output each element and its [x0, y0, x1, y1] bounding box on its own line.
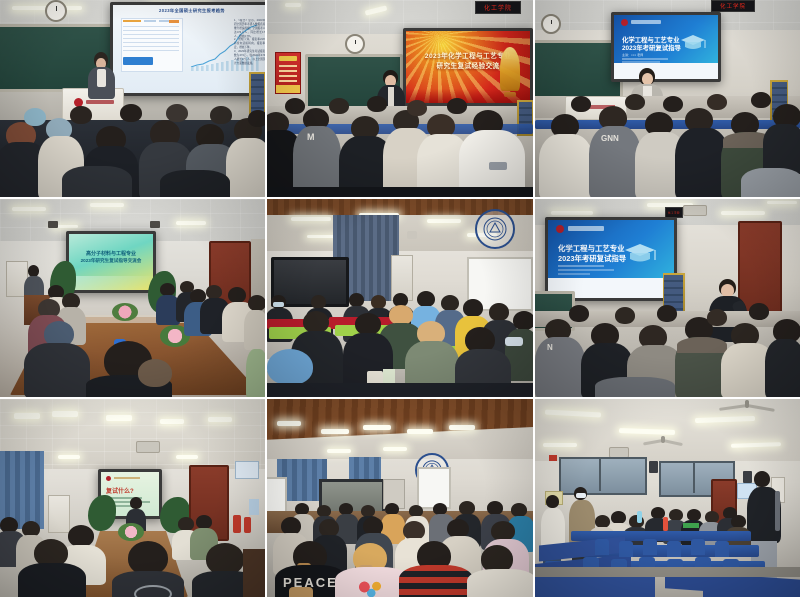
university-crest-icon	[621, 19, 628, 26]
collage-photo-9[interactable]	[535, 399, 800, 597]
slide-title-4-line2: 2023年研究生复试指导交流会	[69, 258, 153, 264]
blackboard	[535, 40, 623, 104]
collage-photo-4[interactable]: 高分子材料与工程专业 2023年研究生复试指导交流会	[0, 199, 265, 397]
led-sign-text: 化工学院	[720, 2, 746, 10]
projection-screen-6[interactable]: 化学工程与工艺专业 2023年考研复试指导	[545, 217, 677, 301]
ceiling-fan-icon	[719, 399, 775, 411]
wall-cabinet	[48, 495, 70, 533]
wall-clock	[541, 14, 561, 34]
university-circular-emblem-icon	[475, 209, 515, 249]
collage-photo-2[interactable]: 化工学院 2023年化学工程与工艺专业 研究生复试经验交流	[267, 0, 533, 197]
slide-title-3-line2: 2023年考研复试指导	[622, 43, 681, 52]
projection-screen-3[interactable]: 化学工程与工艺专业 2023年考研复试指导 主讲：××× 老师	[611, 12, 721, 82]
collage-photo-8[interactable]: PEACE	[267, 399, 533, 597]
flower-arrangement	[112, 303, 138, 321]
slide-title-7: 复试什么?	[106, 486, 134, 495]
projection-screen-1[interactable]: 2023年全国硕士研究生报考趋势	[110, 2, 265, 96]
slide-title-4-line1: 高分子材料与工程专业	[69, 250, 153, 257]
projection-screen-4[interactable]: 高分子材料与工程专业 2023年研究生复试指导交流会	[66, 231, 156, 293]
emblem-glyph	[483, 217, 507, 241]
led-sign-text: 化工学院	[668, 211, 680, 215]
graduation-cap-icon	[624, 242, 656, 264]
slide-title-6-line2: 2023年考研复试指导	[558, 253, 626, 264]
wall-clock	[345, 34, 365, 54]
golden-torch-graphic	[500, 47, 520, 91]
collage-photo-7[interactable]: 复试什么?	[0, 399, 265, 597]
ceiling-projector	[683, 205, 707, 216]
led-sign-text: 化工学院	[484, 3, 512, 12]
collage-photo-6[interactable]: 化工学院 化学工程与工艺专业 2023年考研复试指导	[535, 199, 800, 397]
slide-subtitle-3: 主讲：××× 老师	[622, 53, 643, 57]
slide-title-1: 2023年全国硕士研究生报考趋势	[113, 8, 265, 13]
university-crest-icon	[106, 476, 111, 481]
flower-arrangement	[118, 523, 144, 541]
collage-photo-1[interactable]: 2023年全国硕士研究生报考趋势	[0, 0, 265, 197]
university-crest-icon	[556, 225, 564, 233]
collage-photo-3[interactable]: 化工学院 化学工程与工艺专业 2023年考研复试指导 主讲：××× 老师	[535, 0, 800, 197]
led-sign-3: 化工学院	[711, 0, 755, 12]
wall-poster	[275, 52, 301, 94]
collage-photo-5[interactable]	[267, 199, 533, 397]
classroom-window	[559, 457, 647, 495]
classroom-door[interactable]	[738, 221, 782, 315]
fire-extinguisher-icon	[233, 515, 241, 533]
projection-screen-2[interactable]: 2023年化学工程与工艺专业 研究生复试经验交流	[403, 28, 533, 106]
graduation-cap-icon	[680, 33, 706, 51]
ceiling-fan-icon	[643, 435, 683, 445]
ceiling-projector	[136, 441, 160, 453]
led-sign-2: 化工学院	[475, 1, 521, 14]
wall-clock	[45, 0, 67, 22]
photo-collage: 2023年全国硕士研究生报考趋势	[0, 0, 800, 597]
